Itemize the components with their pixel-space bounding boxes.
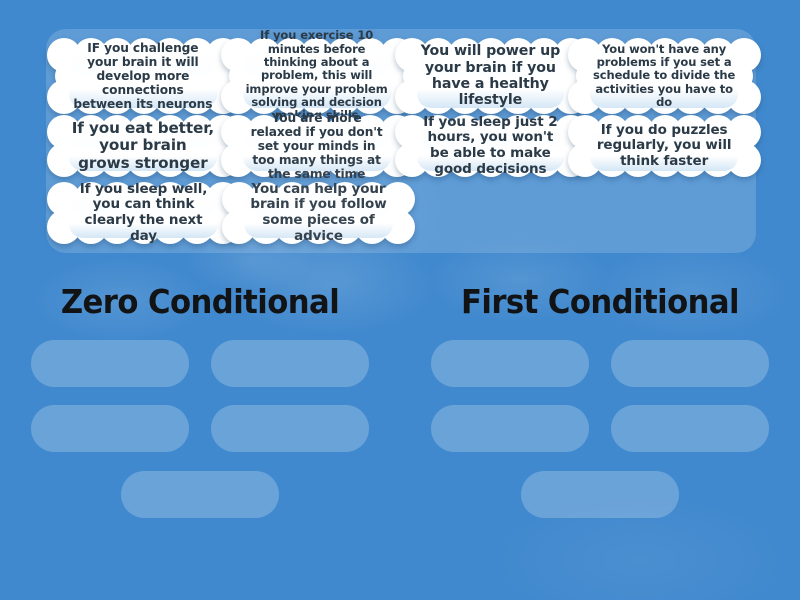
drop-zone[interactable] xyxy=(121,471,279,518)
word-card[interactable]: If you do puzzles regularly, you will th… xyxy=(580,117,748,175)
drop-zones-first-conditional xyxy=(400,340,800,518)
column-headings: Zero Conditional First Conditional xyxy=(0,282,800,321)
drop-zone[interactable] xyxy=(431,340,589,387)
activity-stage: IF you challenge your brain it will deve… xyxy=(0,0,800,600)
drop-zone[interactable] xyxy=(211,405,369,452)
drop-zone[interactable] xyxy=(611,340,769,387)
word-bank-row-3: If you sleep well, you can think clearly… xyxy=(54,184,748,246)
word-card-label: If you exercise 10 minutes before thinki… xyxy=(233,29,401,122)
word-card-label: You won't have any problems if you set a… xyxy=(580,43,748,110)
sorting-columns: Zero Conditional First Conditional xyxy=(0,282,800,518)
word-card[interactable]: If you sleep just 2 hours, you won't be … xyxy=(407,117,575,175)
word-card-label: IF you challenge your brain it will deve… xyxy=(59,41,227,112)
word-card[interactable]: If you sleep well, you can think clearly… xyxy=(59,184,228,242)
word-card[interactable]: You will power up your brain if you have… xyxy=(407,40,575,112)
word-card[interactable]: If you eat better, your brain grows stro… xyxy=(59,117,227,175)
word-card-label: You can help your brain if you follow so… xyxy=(234,182,403,245)
column-heading-zero-conditional: Zero Conditional xyxy=(14,282,386,321)
drop-zone[interactable] xyxy=(31,340,189,387)
word-bank-panel: IF you challenge your brain it will deve… xyxy=(46,29,756,253)
drop-zone[interactable] xyxy=(31,405,189,452)
word-bank-row-1: IF you challenge your brain it will deve… xyxy=(54,40,748,112)
word-card-label: If you sleep well, you can think clearly… xyxy=(59,182,228,245)
word-card[interactable]: If you exercise 10 minutes before thinki… xyxy=(233,40,401,112)
drop-zones-zero-conditional xyxy=(0,340,400,518)
drop-zone[interactable] xyxy=(431,405,589,452)
word-card[interactable]: You can help your brain if you follow so… xyxy=(234,184,403,242)
word-card-label: If you do puzzles regularly, you will th… xyxy=(580,123,748,170)
word-card-label: You will power up your brain if you have… xyxy=(407,43,575,109)
drop-zone-area xyxy=(0,340,800,518)
word-card[interactable]: IF you challenge your brain it will deve… xyxy=(59,40,227,112)
word-card[interactable]: You won't have any problems if you set a… xyxy=(580,40,748,112)
word-card-label: If you eat better, your brain grows stro… xyxy=(59,120,227,173)
drop-zone[interactable] xyxy=(611,405,769,452)
word-card-label: If you sleep just 2 hours, you won't be … xyxy=(407,115,575,178)
word-bank-row-2: If you eat better, your brain grows stro… xyxy=(54,117,748,179)
word-card[interactable]: You are more relaxed if you don't set yo… xyxy=(233,117,401,175)
word-card-label: You are more relaxed if you don't set yo… xyxy=(233,111,401,182)
drop-zone[interactable] xyxy=(211,340,369,387)
drop-zone[interactable] xyxy=(521,471,679,518)
column-heading-first-conditional: First Conditional xyxy=(414,282,786,321)
